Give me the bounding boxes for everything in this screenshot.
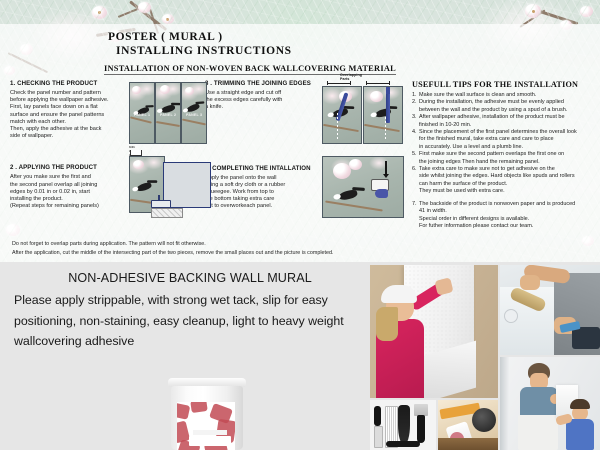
man-trousers: [518, 415, 558, 450]
panel-3-image: PANEL 3: [181, 82, 207, 144]
step-3-line: Use a straight edge and cut off: [205, 90, 323, 97]
blossom-motif: [185, 87, 194, 95]
wallpaper-instruction-poster: POSTER ( MURAL ) INSTALLING INSTRUCTIONS…: [0, 0, 600, 450]
column-middle: 3 . TRIMMING THE JOINING EDGES Use a str…: [205, 80, 323, 211]
twig-motif: [364, 124, 400, 132]
footnote-line-1: Do not forget to overlap parts during ap…: [12, 240, 588, 249]
tip-line: the joining edges Then hand the remainin…: [419, 159, 598, 166]
trim-panel-left: [322, 86, 362, 144]
step-2-line: (Repeat steps for remaining panels): [10, 203, 128, 210]
step-3-body: Use a straight edge and cut off the exce…: [205, 90, 323, 112]
tip-line: finished in 10-20 min.: [419, 122, 598, 129]
step-1-title: 1. CHECKING THE PRODUCT: [10, 80, 128, 88]
tip-line: side whilst joining the edges. Hard obje…: [419, 173, 598, 180]
footnote-block: Do not forget to overlap parts during ap…: [12, 240, 588, 258]
twig-motif: [182, 119, 206, 125]
tool-blade: [374, 426, 383, 448]
blossom-motif: [160, 85, 170, 94]
blossom-core: [532, 10, 535, 13]
branch-decor: [118, 3, 150, 18]
step-2-body: After you make sure the first and the se…: [10, 174, 128, 210]
step-3-line: a knife.: [205, 104, 323, 111]
person-cap: [381, 285, 417, 303]
child-hair: [570, 399, 590, 409]
adhesive-hatch: [151, 208, 183, 218]
step-4-line: using a soft dry cloth or a rubber: [205, 182, 323, 189]
tool-handle: [374, 406, 381, 426]
tip-line: in accurately. Use a level and a plumb l…: [419, 144, 598, 151]
wall-panel-image: [322, 156, 404, 218]
step-2-line: edges by 0.01 in or 0.02 in, start: [10, 189, 128, 196]
card-header: POSTER ( MURAL ) INSTALLING INSTRUCTIONS…: [0, 24, 600, 76]
photo-man-and-child-hanging-wallpaper: [500, 357, 600, 450]
bucket-label-text-band: [193, 430, 227, 435]
step-4-block: 4. COMPLETING THE INTALLATION Apply the …: [205, 165, 323, 211]
tip-line: for the finished mural, take extra care …: [419, 136, 598, 143]
tip-number: 6.: [412, 166, 419, 196]
tip-item: 2. During the installation, the adhesive…: [412, 99, 598, 114]
tip-text: After wallpaper adhesive, installation o…: [419, 114, 598, 129]
step-2-line: After you make sure the first and: [10, 174, 128, 181]
panel-3-label: PANEL 3: [186, 113, 202, 117]
tip-text: Make sure the wall surface is clean and …: [419, 92, 598, 99]
gloved-hand-icon: [375, 189, 388, 198]
step-2-block: 2 . APPLYING THE PRODUCT After you make …: [10, 164, 128, 210]
blossom-decor: [92, 6, 107, 19]
roller-icon: [151, 200, 171, 208]
instruction-columns: 1. CHECKING THE PRODUCT Check the panel …: [0, 80, 600, 264]
photo-installation-tools: [370, 400, 436, 450]
step-4-body: Apply the panel onto the wall using a so…: [205, 175, 323, 211]
step-1-body: Check the panel number and pattern befor…: [10, 90, 128, 140]
photo-woman-applying-wallpaper: [370, 265, 498, 398]
step-2-line: installing the product.: [10, 196, 128, 203]
tip-number: 7.: [412, 201, 419, 231]
tip-line: Since the placement of the first panel d…: [419, 129, 598, 136]
blossom-core: [98, 11, 101, 14]
blossom-motif: [133, 160, 144, 169]
paste-bucket: [472, 408, 496, 432]
tip-item: 4. Since the placement of the first pane…: [412, 129, 598, 151]
tip-number: 4.: [412, 129, 419, 151]
step-3-line: the excess edges carefully with: [205, 97, 323, 104]
tip-number: 5.: [412, 151, 419, 166]
tip-item: 6. Take extra care to make sure not to g…: [412, 166, 598, 196]
footnote-line-2: After the application, cut the middle of…: [12, 249, 588, 258]
promo-block: NON-ADHESIVE BACKING WALL MURAL Please a…: [14, 268, 366, 352]
tip-line: For futher information please contact ou…: [419, 223, 598, 230]
promo-heading: NON-ADHESIVE BACKING WALL MURAL: [14, 268, 366, 288]
step-4-line: Apply the panel onto the wall: [205, 175, 323, 182]
page-title-line1: POSTER ( MURAL ): [108, 30, 600, 44]
step-4-line: squeegee. Work from top to: [205, 189, 323, 196]
step-1-block: 1. CHECKING THE PRODUCT Check the panel …: [10, 80, 128, 140]
photo-hands-rolling-adhesive: [500, 265, 600, 355]
person-hand: [520, 275, 540, 290]
wood-edge: [438, 438, 498, 450]
blossom-decor: [162, 14, 174, 24]
black-smoother: [398, 405, 410, 445]
blossom-decor: [525, 4, 541, 18]
step-1-line: surface and ensure the panel patterns: [10, 112, 128, 119]
tip-text: Since the placement of the first panel d…: [419, 129, 598, 151]
roller-end: [504, 309, 518, 323]
child-shirt: [566, 419, 594, 450]
panel-2-label: PANEL 2: [160, 113, 176, 117]
bucket-label: [177, 402, 235, 450]
tip-line: can harm the surface of the product.: [419, 181, 598, 188]
twig-motif: [325, 200, 383, 211]
tip-number: 3.: [412, 114, 419, 129]
bucket-body: [171, 386, 243, 450]
tip-line: Special order in different designs is av…: [419, 216, 598, 223]
tip-line: between the wall and the product by usin…: [419, 107, 598, 114]
step-3-title: 3 . TRIMMING THE JOINING EDGES: [205, 80, 323, 88]
tip-line: Make sure the wall surface is clean and …: [419, 92, 598, 99]
column-left: 1. CHECKING THE PRODUCT Check the panel …: [10, 80, 128, 210]
photo-paste-and-roll: [438, 400, 498, 450]
bird-motif: [186, 103, 201, 113]
step-1-line: Check the panel number and pattern: [10, 90, 128, 97]
blossom-core: [166, 18, 169, 21]
spacer: [205, 112, 323, 165]
step-1-line: Then, apply the adhesive at the back: [10, 126, 128, 133]
step-2-title: 2 . APPLYING THE PRODUCT: [10, 164, 128, 172]
scraper-handle: [417, 415, 425, 443]
panel-1-image: PANEL 1: [129, 82, 155, 144]
pencil-tool: [386, 441, 420, 447]
person-hair: [376, 307, 398, 341]
tip-text: Take extra care to make sure not to get …: [419, 166, 598, 196]
overlap-arrow-left: [327, 80, 351, 84]
panel-1-label: PANEL 1: [134, 113, 150, 117]
tip-text: The backside of the product is nonwoven …: [419, 201, 598, 231]
tip-line: During the installation, the adhesive mu…: [419, 99, 598, 106]
promo-body: Please apply strippable, with strong wet…: [14, 290, 366, 352]
cut-line: [385, 117, 386, 139]
step-4-line: the bottom taking extra care: [205, 196, 323, 203]
tip-text: During the installation, the adhesive mu…: [419, 99, 598, 114]
photo-collage: [370, 265, 600, 450]
direction-arrow-icon: [385, 161, 387, 175]
bird-motif: [136, 182, 153, 193]
step-4-title: 4. COMPLETING THE INTALLATION: [205, 165, 323, 173]
spacer: [10, 140, 128, 164]
blossom-motif: [132, 86, 141, 94]
knife-icon: [386, 93, 390, 123]
branch-decor: [540, 10, 579, 25]
tips-title: USEFULL TIPS FOR THE INSTALLATION: [412, 80, 598, 89]
step-3-block: 3 . TRIMMING THE JOINING EDGES Use a str…: [205, 80, 323, 112]
twig-motif: [323, 124, 359, 132]
tip-number: 1.: [412, 92, 419, 99]
tip-number: 2.: [412, 99, 419, 114]
tip-item: 3. After wallpaper adhesive, installatio…: [412, 114, 598, 129]
step-1-line: side of wallpaper.: [10, 133, 128, 140]
tip-line: After wallpaper adhesive, installation o…: [419, 114, 598, 121]
tip-item: 1. Make sure the wall surface is clean a…: [412, 92, 598, 99]
tip-line: First make sure the second pattern overl…: [419, 151, 598, 158]
door-frame: [500, 357, 509, 450]
step-1-line: before applying the wallpaper adhesive.: [10, 97, 128, 104]
photo-adhesive-bucket: [168, 378, 246, 450]
blossom-decor: [138, 2, 151, 13]
tip-line: They must be used with extra care.: [419, 188, 598, 195]
blossom-motif: [370, 91, 383, 102]
step-4-line: not to overworkeach panel.: [205, 203, 323, 210]
blossom-decor: [580, 6, 593, 17]
cut-line: [337, 113, 338, 139]
step-1-line: First, lay panels face down on a flat: [10, 104, 128, 111]
tip-line: 41 in width.: [419, 208, 598, 215]
overlap-arrow-right: [366, 80, 390, 84]
twig-motif: [156, 121, 180, 127]
page-title-line2: INSTALLING INSTRUCTIONS: [116, 44, 600, 58]
tip-line: The backside of the product is nonwoven …: [419, 201, 598, 208]
bird-motif: [338, 189, 358, 201]
bucket-label-band: [189, 436, 231, 446]
step-2-line: the second panel overlap all joining: [10, 182, 128, 189]
tip-item: 7. The backside of the product is nonwov…: [412, 201, 598, 231]
twig-motif: [130, 116, 152, 123]
tip-item: 5. First make sure the second pattern ov…: [412, 151, 598, 166]
column-tips: USEFULL TIPS FOR THE INSTALLATION 1. Mak…: [412, 80, 598, 230]
step-1-line: match with each other.: [10, 119, 128, 126]
tip-text: First make sure the second pattern overl…: [419, 151, 598, 166]
blossom-motif: [349, 159, 362, 170]
panel-2-image: PANEL 2: [155, 82, 181, 144]
instruction-card: POSTER ( MURAL ) INSTALLING INSTRUCTIONS…: [0, 24, 600, 264]
tip-line: Take extra care to make sure not to get …: [419, 166, 598, 173]
tool-dark: [572, 327, 600, 349]
trim-panel-right: [363, 86, 403, 144]
